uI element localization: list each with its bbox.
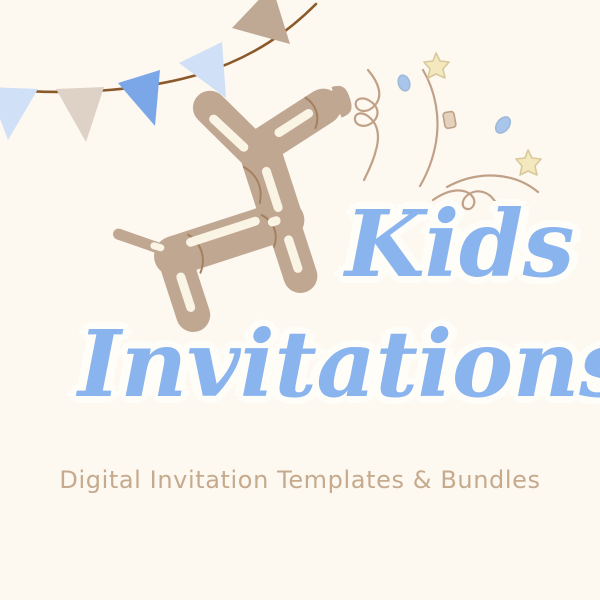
highlight-tail — [154, 244, 161, 250]
confetti-tan-1 — [443, 111, 457, 129]
poster-artwork — [0, 0, 600, 600]
poster-canvas: Kids Invitations Digital Invitation Temp… — [0, 0, 600, 600]
highlight-body-dot — [272, 221, 276, 222]
